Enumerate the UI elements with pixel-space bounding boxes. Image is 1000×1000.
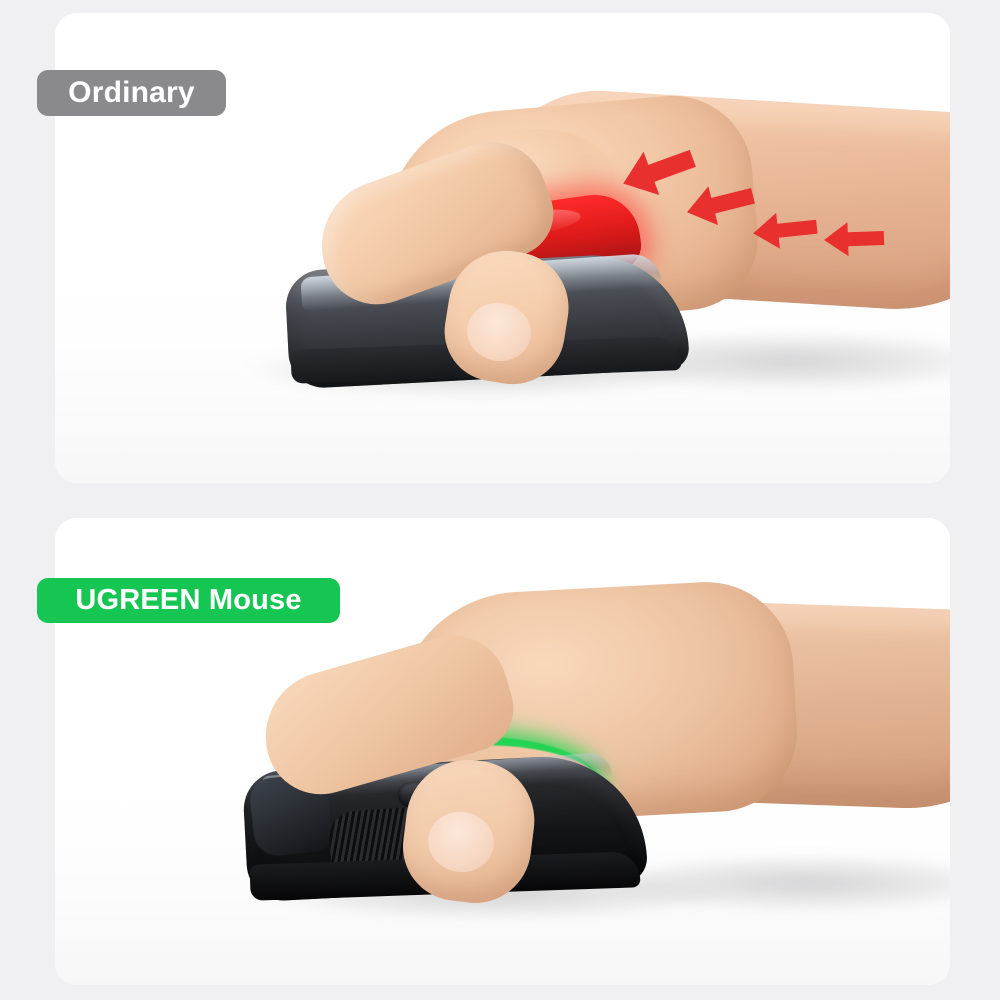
badge-ordinary: Ordinary	[37, 70, 226, 116]
badge-ugreen-label: UGREEN Mouse	[75, 584, 301, 617]
red-strain-arrow-2	[751, 206, 819, 254]
comparison-image: Ordinary	[0, 0, 1000, 1000]
badge-ugreen: UGREEN Mouse	[37, 578, 340, 623]
red-strain-arrow-1	[823, 218, 884, 260]
badge-ordinary-label: Ordinary	[68, 76, 195, 110]
